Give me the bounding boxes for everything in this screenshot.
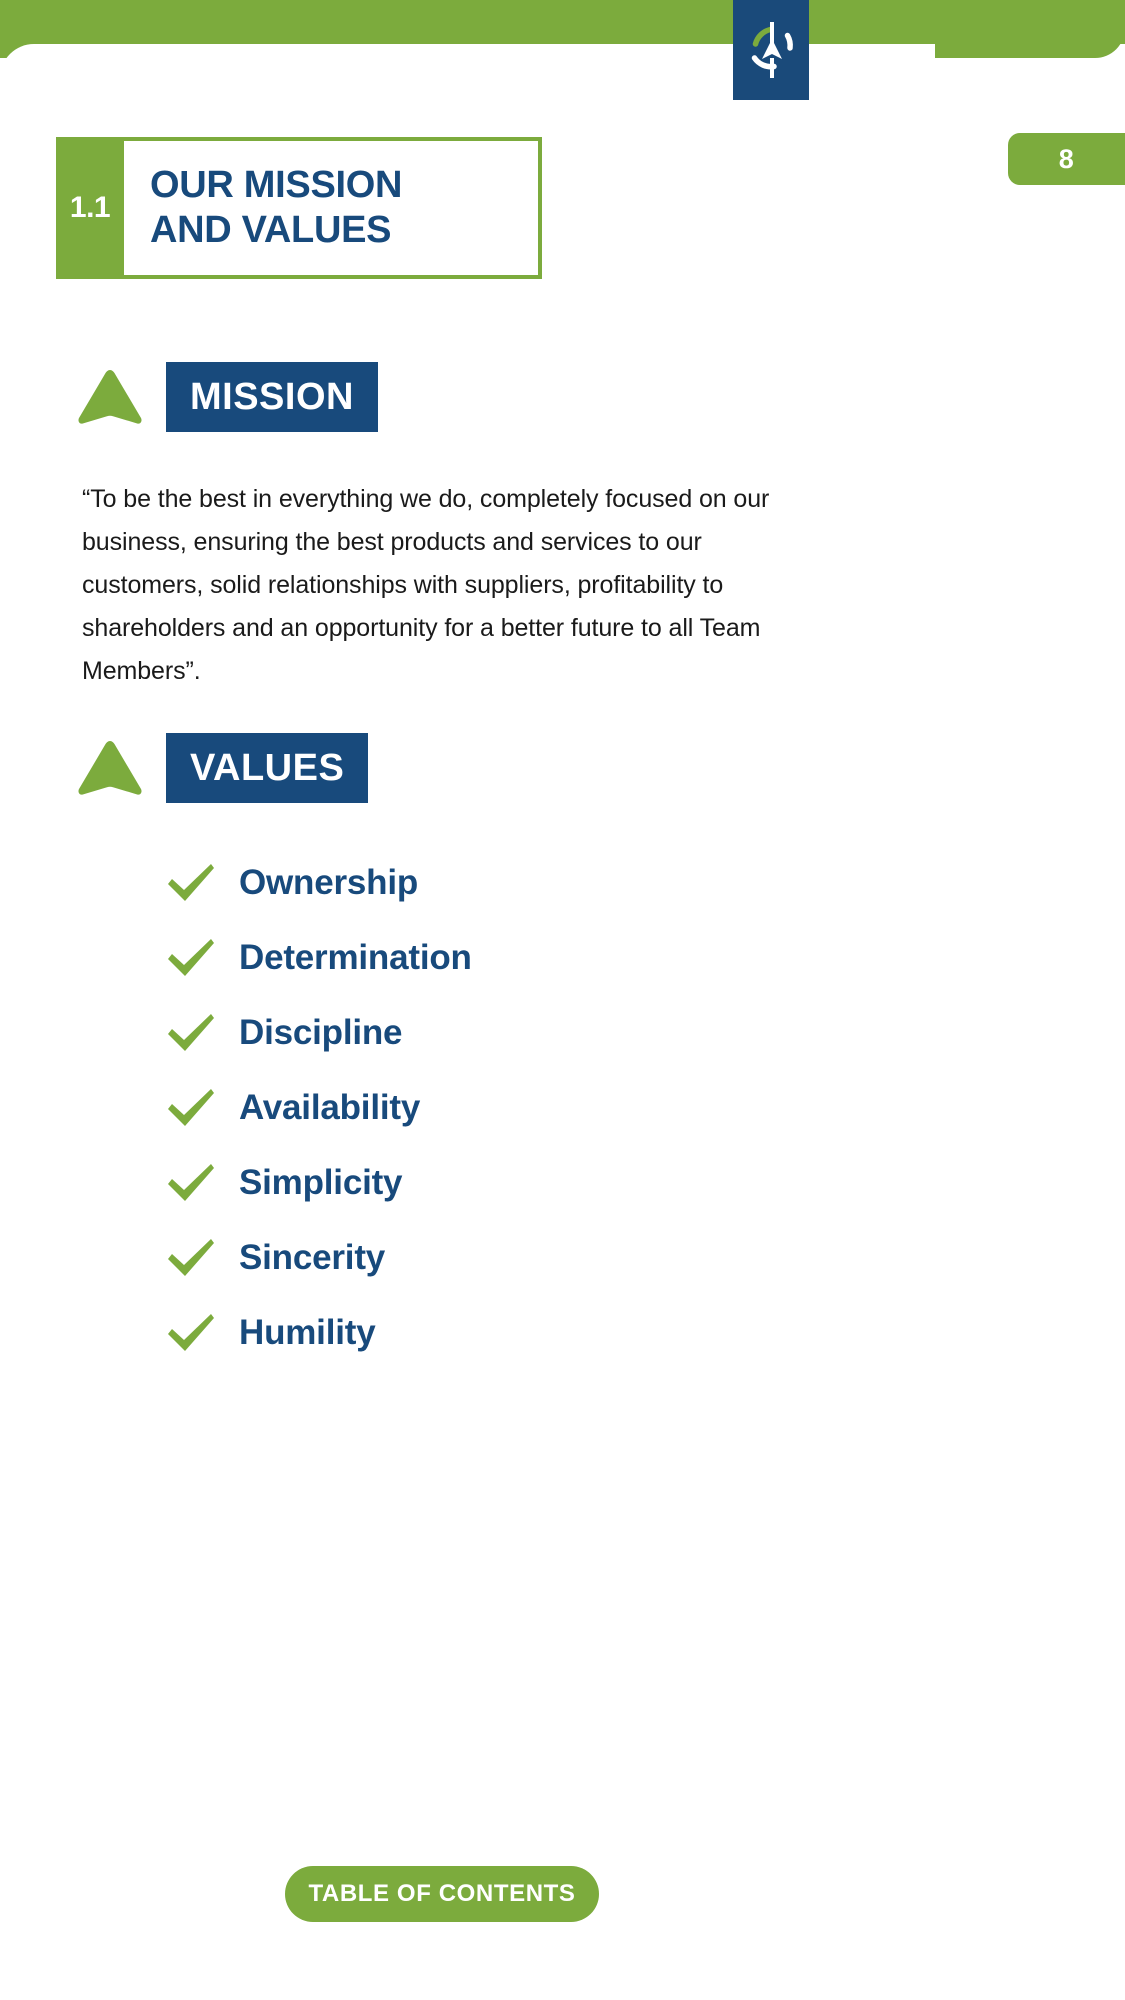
section-header: 1.1 OUR MISSION AND VALUES	[56, 137, 542, 279]
green-check-icon	[165, 937, 217, 979]
section-number-badge: 1.1	[56, 137, 124, 279]
table-of-contents-label: TABLE OF CONTENTS	[308, 1880, 575, 1908]
value-label: Sincerity	[239, 1238, 385, 1278]
list-item: Simplicity	[165, 1145, 785, 1220]
list-item: Humility	[165, 1295, 785, 1370]
value-label: Discipline	[239, 1013, 402, 1053]
value-label: Availability	[239, 1088, 420, 1128]
compass-logo-icon	[743, 14, 799, 86]
list-item: Discipline	[165, 995, 785, 1070]
value-label: Ownership	[239, 863, 418, 903]
mission-banner-label: MISSION	[190, 376, 354, 419]
green-check-icon	[165, 1237, 217, 1279]
section-title-box: OUR MISSION AND VALUES	[124, 137, 542, 279]
list-item: Sincerity	[165, 1220, 785, 1295]
green-chevron-icon	[76, 366, 144, 428]
values-banner-label: VALUES	[190, 747, 344, 790]
value-label: Humility	[239, 1313, 375, 1353]
values-banner-row: VALUES	[76, 733, 368, 803]
green-chevron-icon	[76, 737, 144, 799]
mission-banner-row: MISSION	[76, 362, 378, 432]
page-number: 8	[1059, 144, 1075, 175]
list-item: Determination	[165, 920, 785, 995]
logo-tab	[733, 0, 809, 100]
green-check-icon	[165, 862, 217, 904]
green-check-icon	[165, 1162, 217, 1204]
table-of-contents-button[interactable]: TABLE OF CONTENTS	[285, 1866, 599, 1922]
page-number-tab: 8	[1008, 133, 1125, 185]
list-item: Availability	[165, 1070, 785, 1145]
green-check-icon	[165, 1087, 217, 1129]
values-list: Ownership Determination Discipline	[165, 845, 785, 1370]
list-item: Ownership	[165, 845, 785, 920]
mission-banner: MISSION	[166, 362, 378, 432]
green-check-icon	[165, 1012, 217, 1054]
document-page: 8 1.1 OUR MISSION AND VALUES MISSION “To…	[0, 0, 1125, 2000]
header-band-tail	[935, 0, 1125, 58]
page-title-line-2: AND VALUES	[150, 208, 538, 253]
green-check-icon	[165, 1312, 217, 1354]
value-label: Determination	[239, 938, 472, 978]
mission-statement-text: “To be the best in everything we do, com…	[82, 478, 782, 693]
values-banner: VALUES	[166, 733, 368, 803]
page-title-line-1: OUR MISSION	[150, 163, 538, 208]
value-label: Simplicity	[239, 1163, 402, 1203]
section-number: 1.1	[70, 191, 110, 225]
